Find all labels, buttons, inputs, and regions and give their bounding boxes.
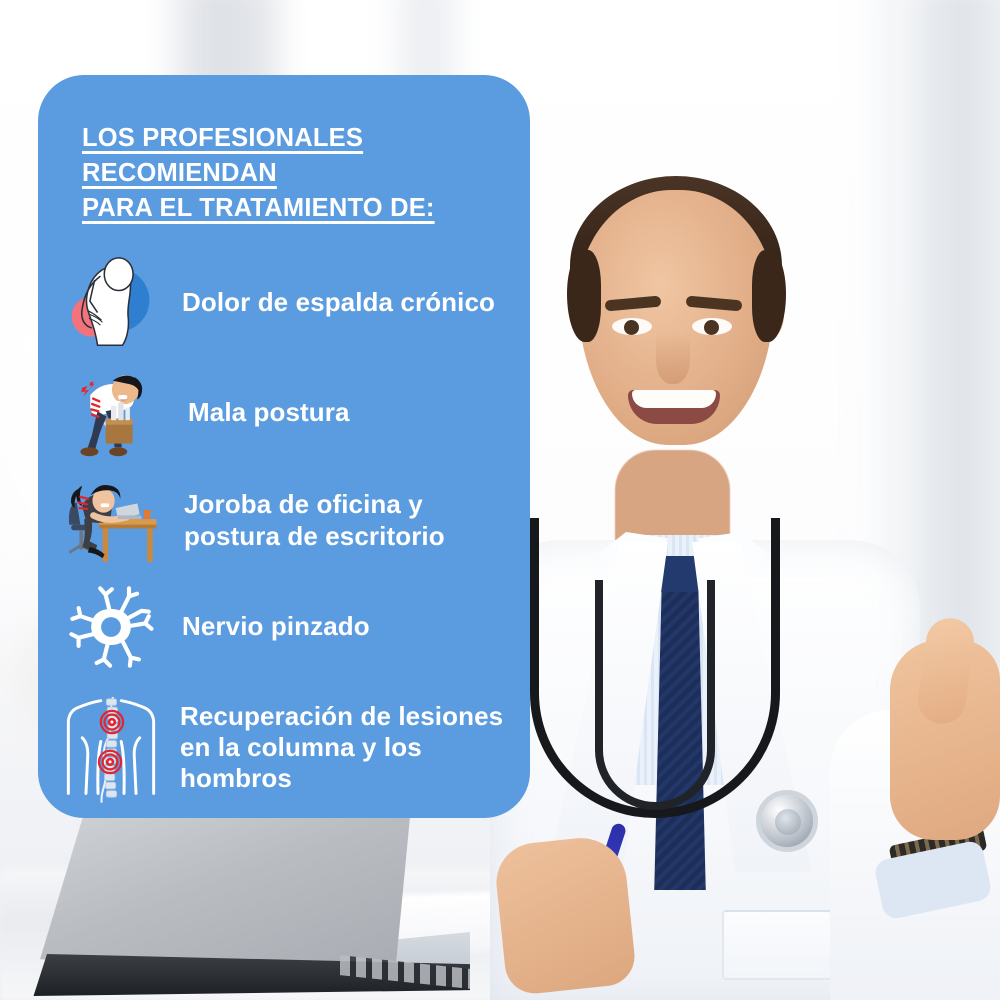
list-item-label: Mala postura: [188, 397, 350, 428]
card-title: LOS PROFESIONALES RECOMIENDAN PARA EL TR…: [82, 121, 504, 227]
card-title-line-2: PARA EL TRATAMIENTO DE:: [82, 191, 504, 226]
list-item: Mala postura: [60, 361, 504, 465]
stethoscope-tube: [595, 580, 715, 810]
doctor-teeth: [632, 390, 716, 408]
list-item: Nervio pinzado: [60, 575, 504, 679]
doctor-pupil: [704, 320, 719, 335]
list-item-label: Nervio pinzado: [182, 611, 370, 642]
laptop: [20, 812, 470, 1000]
conditions-list: Dolor de espalda crónico: [60, 251, 504, 809]
back-pain-icon: [60, 251, 162, 355]
list-item-label: Recuperación de lesiones en la columna y…: [180, 701, 504, 795]
doctor-hair-side: [567, 250, 601, 342]
list-item-label: Joroba de oficina y postura de escritori…: [184, 489, 504, 551]
doctor-hand: [493, 834, 638, 997]
poster-canvas: LOS PROFESIONALES RECOMIENDAN PARA EL TR…: [0, 0, 1000, 1000]
laptop-lid: [40, 812, 410, 972]
list-item: Dolor de espalda crónico: [60, 251, 504, 355]
doctor-nose: [656, 332, 690, 384]
doctor-eye: [612, 318, 652, 335]
recommendations-card: LOS PROFESIONALES RECOMIENDAN PARA EL TR…: [38, 75, 530, 818]
doctor-photo: [470, 150, 1000, 1000]
doctor-pupil: [624, 320, 639, 335]
list-item-label: Dolor de espalda crónico: [182, 287, 495, 318]
card-title-line-1: LOS PROFESIONALES RECOMIENDAN: [82, 121, 504, 191]
neuron-icon: [60, 575, 162, 679]
bending-posture-icon: [60, 361, 162, 465]
desk-worker-icon: [60, 469, 162, 573]
doctor-eye: [692, 318, 732, 335]
list-item: Recuperación de lesiones en la columna y…: [60, 687, 504, 809]
list-item: Joroba de oficina y postura de escritori…: [60, 469, 504, 573]
stethoscope-chestpiece: [756, 790, 818, 852]
doctor-smile: [628, 390, 720, 424]
spine-torso-icon: [60, 687, 162, 809]
coat-pocket: [722, 910, 832, 980]
